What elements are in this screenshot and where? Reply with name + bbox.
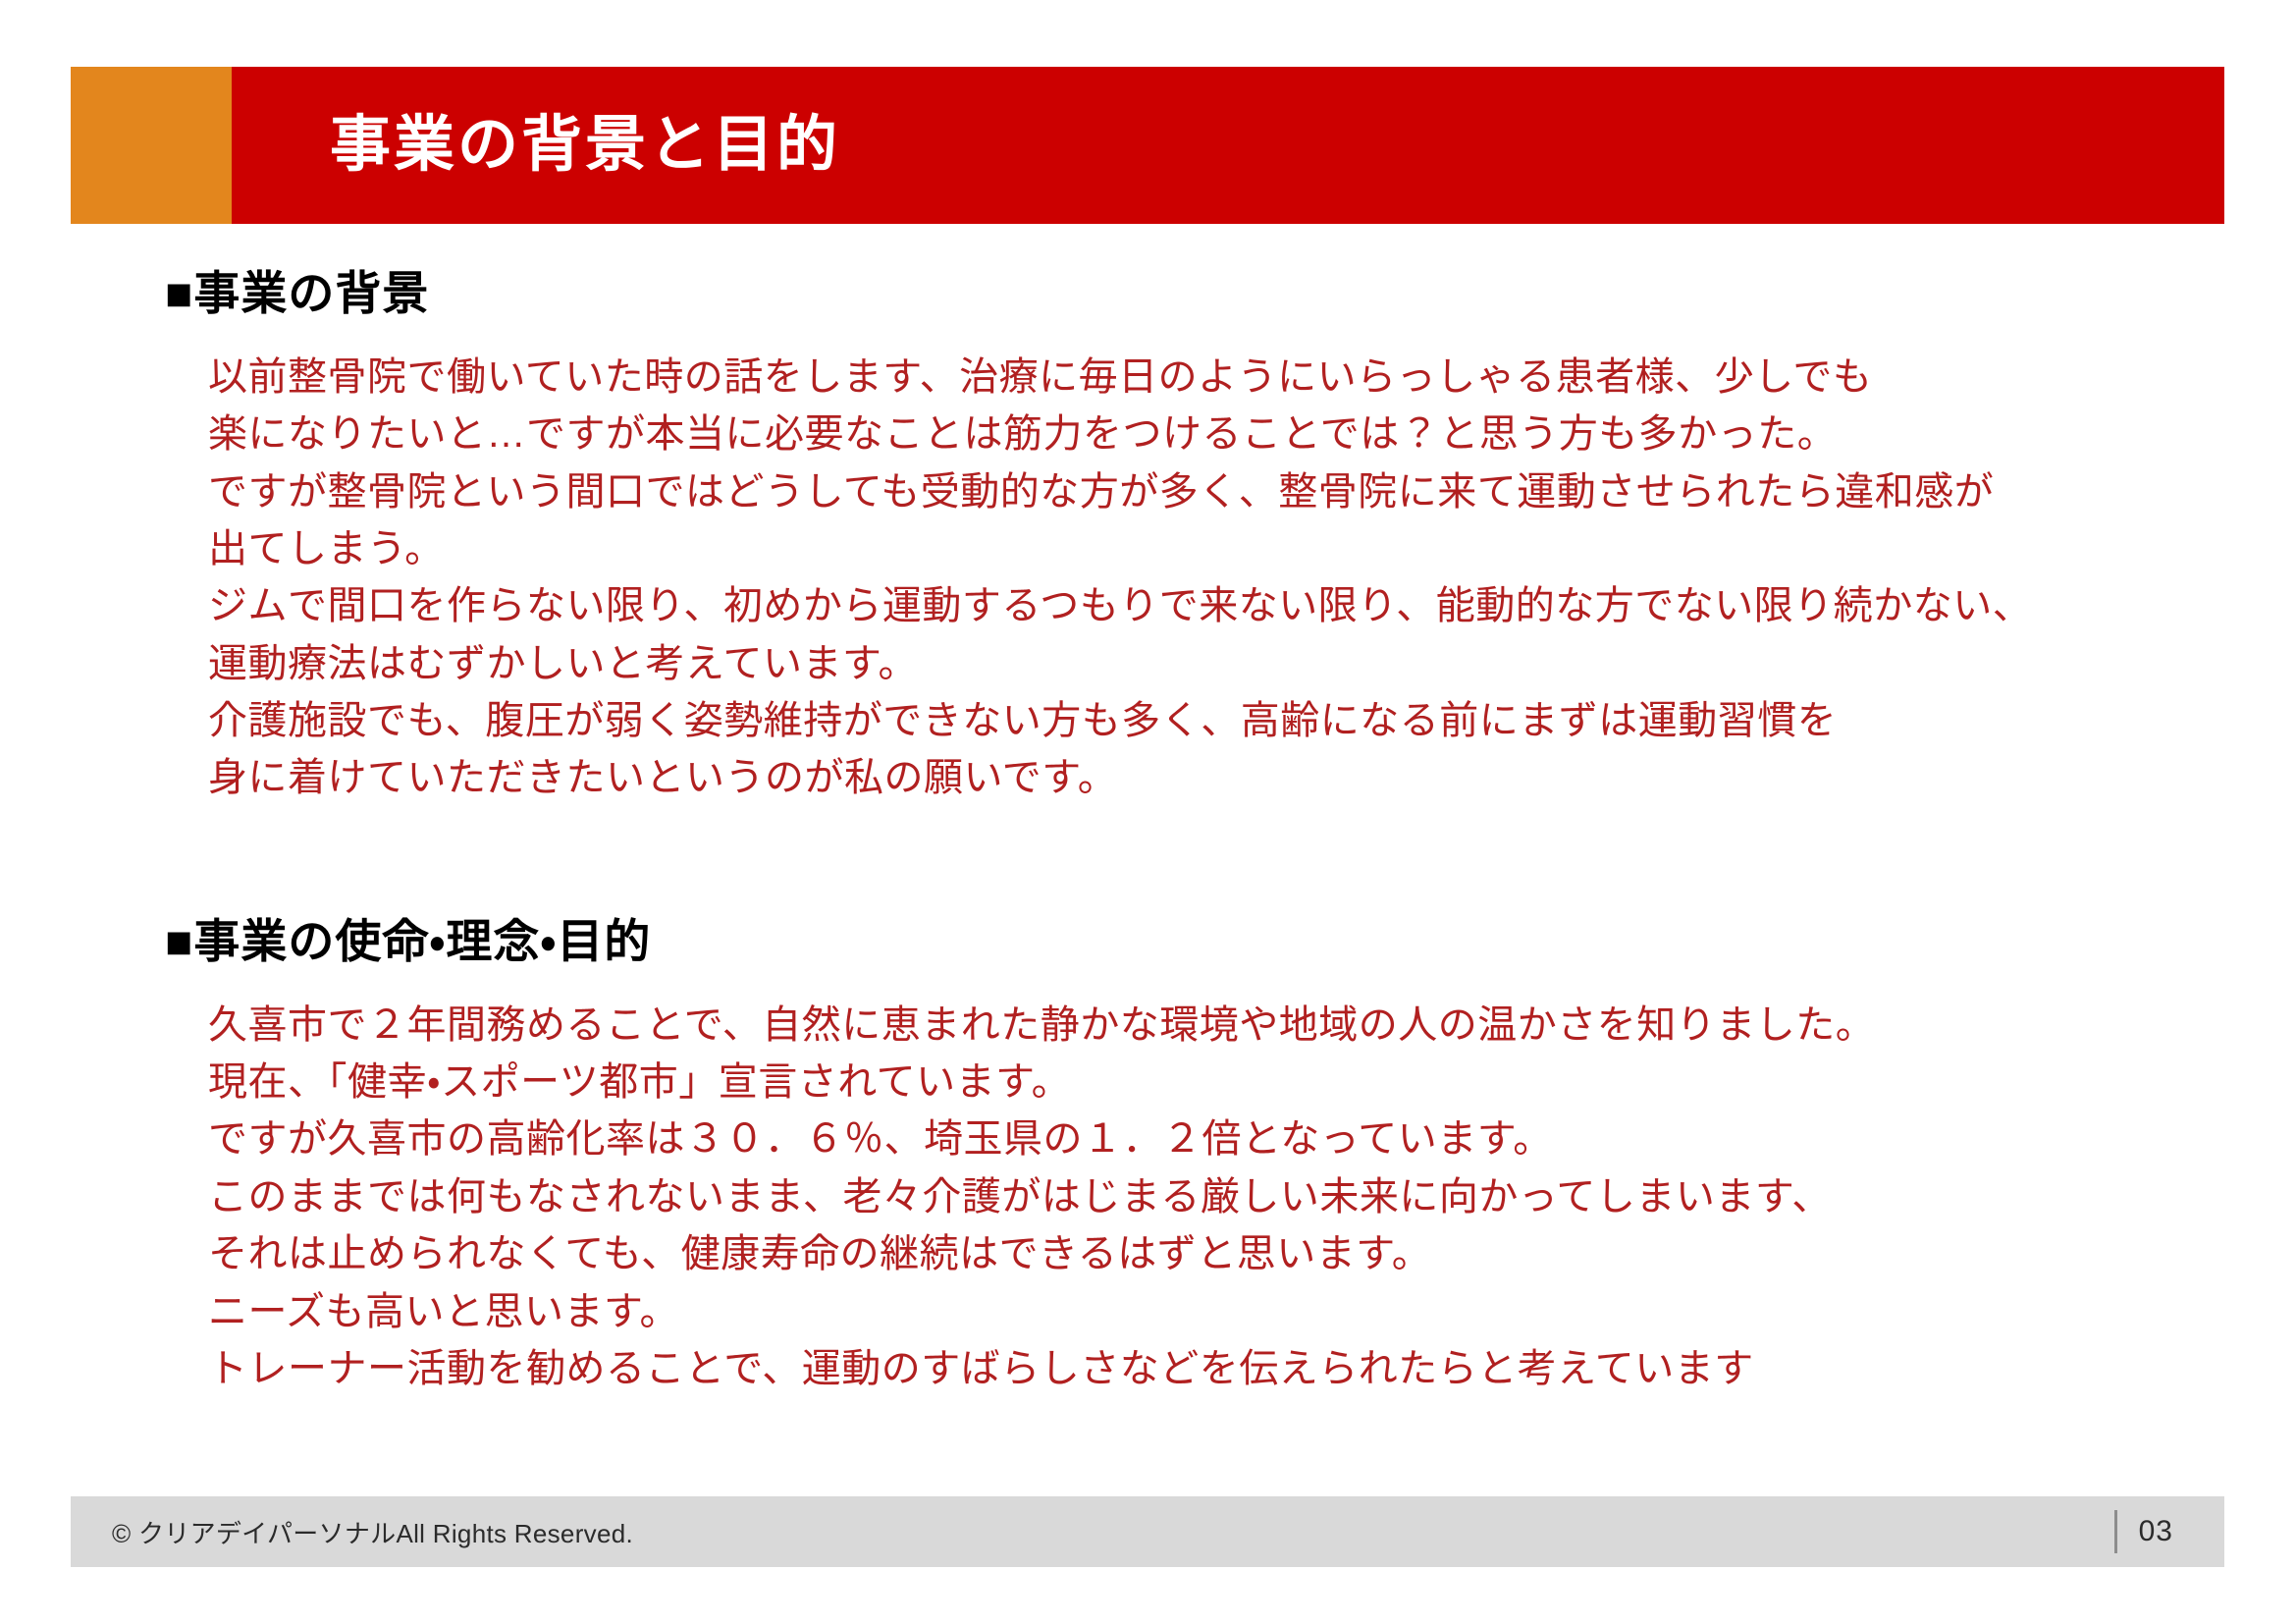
body-line: 久喜市で２年間務めることで、自然に恵まれた静かな環境や地域の人の温かさを知りまし…: [208, 997, 2296, 1054]
section-heading-mission: ■事業の使命・理念・目的: [0, 913, 2296, 971]
body-line: 身に着けていただきたいというのが私の願いです。: [208, 749, 2296, 806]
page-title: 事業の背景と目的: [330, 115, 840, 176]
body-line: 運動療法はむずかしいと考えています。: [208, 635, 2296, 692]
footer-divider: [2114, 1510, 2117, 1553]
title-accent-block: [71, 67, 232, 224]
slide-footer: © クリアデイパーソナルAll Rights Reserved. 03: [71, 1496, 2224, 1567]
slide: 事業の背景と目的 ■事業の背景 以前整骨院で働いていた時の話をします、治療に毎日…: [0, 0, 2296, 1624]
footer-copyright: © クリアデイパーソナルAll Rights Reserved.: [71, 1514, 633, 1550]
section-body-mission: 久喜市で２年間務めることで、自然に恵まれた静かな環境や地域の人の温かさを知りまし…: [0, 997, 2296, 1398]
slide-content: ■事業の背景 以前整骨院で働いていた時の話をします、治療に毎日のようにいらっしゃ…: [0, 265, 2296, 1409]
body-line: 楽になりたいと…ですが本当に必要なことは筋力をつけることでは？と思う方も多かった…: [208, 406, 2296, 462]
body-line: ジムで間口を作らない限り、初めから運動するつもりで来ない限り、能動的な方でない限…: [208, 577, 2296, 634]
body-line: 介護施設でも、腹圧が弱く姿勢維持ができない方も多く、高齢になる前にまずは運動習慣…: [208, 692, 2296, 749]
body-line: ですが整骨院という間口ではどうしても受動的な方が多く、整骨院に来て運動させられた…: [208, 463, 2296, 520]
section-body-background: 以前整骨院で働いていた時の話をします、治療に毎日のようにいらっしゃる患者様、少し…: [0, 349, 2296, 807]
body-line: 出てしまう。: [208, 520, 2296, 577]
body-line: ニーズも高いと思います。: [208, 1283, 2296, 1340]
body-line: 現在、「健幸・スポーツ都市」宣言されています。: [208, 1054, 2296, 1110]
section-background: ■事業の背景 以前整骨院で働いていた時の話をします、治療に毎日のようにいらっしゃ…: [0, 265, 2296, 807]
page-number: 03: [2139, 1515, 2173, 1548]
section-mission: ■事業の使命・理念・目的 久喜市で２年間務めることで、自然に恵まれた静かな環境や…: [0, 913, 2296, 1397]
body-line: このままでは何もなされないまま、老々介護がはじまる厳しい未来に向かってしまいます…: [208, 1168, 2296, 1225]
body-line: それは止められなくても、健康寿命の継続はできるはずと思います。: [208, 1225, 2296, 1282]
slide-title-bar: 事業の背景と目的: [71, 67, 2224, 224]
body-line: ですが久喜市の高齢化率は３０．６％、埼玉県の１．２倍となっています。: [208, 1110, 2296, 1167]
title-band: 事業の背景と目的: [232, 67, 2224, 224]
section-spacer: [0, 819, 2296, 913]
body-line: 以前整骨院で働いていた時の話をします、治療に毎日のようにいらっしゃる患者様、少し…: [208, 349, 2296, 406]
section-heading-background: ■事業の背景: [0, 265, 2296, 323]
footer-page-area: 03: [2114, 1510, 2224, 1553]
body-line: トレーナー活動を勧めることで、運動のすばらしさなどを伝えられたらと考えています: [208, 1340, 2296, 1397]
